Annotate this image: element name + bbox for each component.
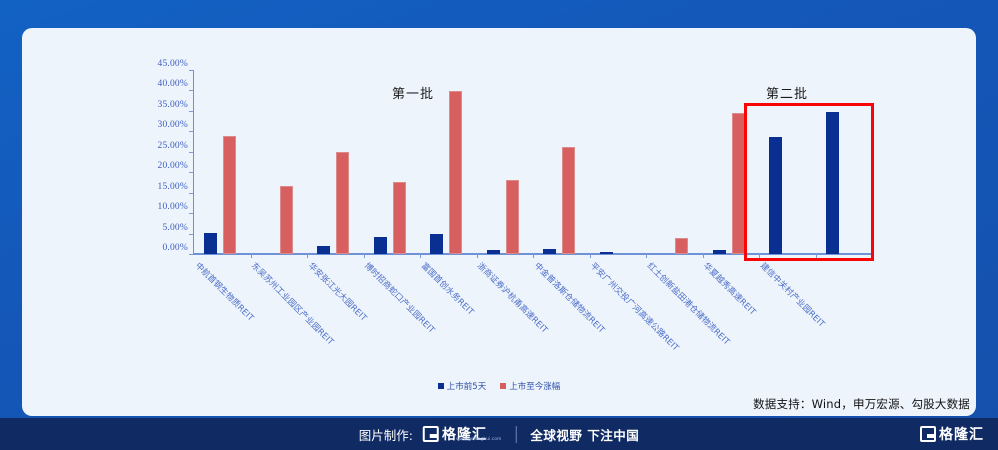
legend-swatch-icon-red bbox=[500, 383, 506, 389]
x-axis-tick bbox=[251, 254, 252, 258]
y-axis-tick-label: 30.00% bbox=[158, 120, 189, 130]
x-axis-tick bbox=[477, 254, 478, 258]
y-axis-tick bbox=[189, 70, 193, 71]
bar-series-pre-listing bbox=[204, 233, 217, 254]
highlight-box-batch-two bbox=[744, 103, 874, 261]
x-axis-category-label: 建信中关村产业园REIT bbox=[759, 261, 826, 328]
x-axis-category-label: 浙商证券沪杭甬高速REIT bbox=[476, 261, 549, 334]
bar-series-since-listing bbox=[675, 238, 688, 254]
y-axis-tick bbox=[189, 234, 193, 235]
y-axis-tick-label: 10.00% bbox=[158, 202, 189, 212]
footer-bar: 图片制作: 格隆汇 www.gelonghui.com 全球视野 下注中国 格隆… bbox=[0, 418, 998, 450]
legend-label-blue: 上市前5天 bbox=[447, 380, 486, 392]
y-axis-tick bbox=[189, 131, 193, 132]
x-axis-category-label: 华安张江光大园REIT bbox=[307, 261, 368, 322]
bar-series-since-listing bbox=[732, 113, 745, 254]
legend-swatch-icon-blue bbox=[438, 383, 444, 389]
x-axis-category-label: 红土创新盐田港仓储物流REIT bbox=[646, 261, 731, 346]
bar-group bbox=[307, 70, 364, 254]
x-axis-tick bbox=[646, 254, 647, 258]
x-axis-tick bbox=[533, 254, 534, 258]
footer-right-brand: 格隆汇 bbox=[920, 424, 984, 444]
brand-name-text-right: 格隆汇 bbox=[939, 424, 984, 444]
y-axis-tick bbox=[189, 213, 193, 214]
x-axis-category-label: 华夏越秀高速REIT bbox=[702, 261, 757, 316]
bar-series-since-listing bbox=[449, 91, 462, 254]
y-axis-tick-label: 45.00% bbox=[158, 59, 189, 69]
x-axis-tick bbox=[703, 254, 704, 258]
brand-url-text: www.gelonghui.com bbox=[456, 437, 501, 442]
y-axis-tick bbox=[189, 193, 193, 194]
chart-legend: 上市前5天 上市至今涨幅 bbox=[22, 380, 976, 392]
legend-item-red: 上市至今涨幅 bbox=[500, 380, 560, 392]
x-axis-category-label: 中金普洛斯仓储物流REIT bbox=[533, 261, 606, 334]
x-axis-tick bbox=[364, 254, 365, 258]
footer-credit-label: 图片制作: bbox=[359, 425, 413, 444]
bar-group bbox=[477, 70, 534, 254]
bar-series-since-listing bbox=[336, 152, 349, 254]
bar-series-pre-listing bbox=[713, 250, 726, 254]
bar-series-pre-listing bbox=[543, 249, 556, 254]
y-axis-tick-label: 20.00% bbox=[158, 161, 189, 171]
x-axis-category-label: 中航首钢生物质REIT bbox=[194, 261, 255, 322]
bar-group bbox=[251, 70, 308, 254]
bar-group bbox=[194, 70, 251, 254]
bar-series-pre-listing bbox=[487, 250, 500, 254]
brand-logo: 格隆汇 www.gelonghui.com bbox=[423, 424, 501, 444]
bar-series-since-listing bbox=[280, 186, 293, 254]
y-axis-tick bbox=[189, 254, 193, 255]
bar-series-pre-listing bbox=[600, 252, 613, 254]
bar-series-since-listing bbox=[562, 147, 575, 254]
x-axis-category-label: 富国首创水务REIT bbox=[420, 261, 475, 316]
y-axis-tick bbox=[189, 172, 193, 173]
y-axis-tick-label: 0.00% bbox=[162, 243, 188, 253]
bar-group bbox=[533, 70, 590, 254]
y-axis-tick bbox=[189, 90, 193, 91]
gelonghui-logo-icon-right bbox=[920, 426, 936, 442]
footer-slogan: 全球视野 下注中国 bbox=[530, 425, 639, 444]
annotation-batch-one: 第一批 bbox=[392, 83, 434, 102]
gelonghui-logo-icon bbox=[423, 426, 439, 442]
footer-divider bbox=[515, 426, 516, 443]
chart-card: 45.00%40.00%35.00%30.00%25.00%20.00%15.0… bbox=[22, 28, 976, 416]
x-axis-category-label: 平安广州交投广河高速公路REIT bbox=[589, 261, 680, 352]
x-axis-tick bbox=[590, 254, 591, 258]
legend-label-red: 上市至今涨幅 bbox=[509, 380, 560, 392]
bar-group bbox=[590, 70, 647, 254]
y-axis-tick-label: 5.00% bbox=[162, 223, 188, 233]
y-axis-tick bbox=[189, 152, 193, 153]
y-axis-tick-label: 40.00% bbox=[158, 79, 189, 89]
annotation-batch-two: 第二批 bbox=[766, 83, 808, 102]
footer-center-group: 图片制作: 格隆汇 www.gelonghui.com 全球视野 下注中国 bbox=[359, 424, 639, 444]
bar-series-since-listing bbox=[223, 136, 236, 254]
bar-chart: 45.00%40.00%35.00%30.00%25.00%20.00%15.0… bbox=[22, 28, 976, 416]
y-axis-tick-label: 25.00% bbox=[158, 141, 189, 151]
data-source-note: 数据支持：Wind，申万宏源、勾股大数据 bbox=[753, 396, 970, 412]
x-axis-category-label: 东吴苏州工业园区产业园REIT bbox=[250, 261, 335, 346]
legend-item-blue: 上市前5天 bbox=[438, 380, 486, 392]
y-axis-tick-label: 35.00% bbox=[158, 100, 189, 110]
bar-series-since-listing bbox=[506, 180, 519, 254]
bar-series-pre-listing bbox=[374, 237, 387, 254]
bar-group bbox=[646, 70, 703, 254]
bar-series-since-listing bbox=[393, 182, 406, 254]
x-axis-tick bbox=[307, 254, 308, 258]
bar-series-pre-listing bbox=[317, 246, 330, 254]
y-axis-labels: 45.00%40.00%35.00%30.00%25.00%20.00%15.0… bbox=[126, 64, 188, 256]
y-axis-tick-label: 15.00% bbox=[158, 182, 189, 192]
x-axis-tick bbox=[420, 254, 421, 258]
y-axis-tick bbox=[189, 111, 193, 112]
x-axis-category-label: 博时招商蛇口产业园REIT bbox=[363, 261, 436, 334]
bar-series-pre-listing bbox=[430, 234, 443, 254]
